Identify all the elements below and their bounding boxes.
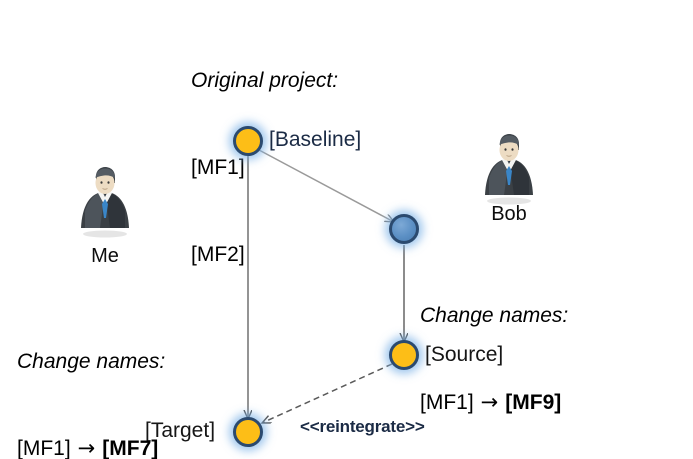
original-project-header: Original project: bbox=[191, 66, 338, 95]
me-change-row-1-to: [MF7] bbox=[102, 437, 158, 459]
avatar-bob-label: Bob bbox=[478, 203, 540, 226]
diagram-canvas: Original project: [MF1] [MF2] [Baseline]… bbox=[0, 0, 693, 459]
original-project-note: Original project: [MF1] [MF2] bbox=[191, 8, 338, 327]
node-target[interactable] bbox=[233, 417, 263, 447]
node-bob-commit[interactable] bbox=[389, 214, 419, 244]
reintegrate-stereotype-label: <<reintegrate>> bbox=[300, 417, 425, 437]
bob-change-names-note: Change names: [MF1]→[MF9] [MF2]→[MF3] bbox=[420, 243, 568, 459]
avatar-me-label: Me bbox=[74, 245, 136, 268]
edge-source-to-target bbox=[262, 364, 392, 423]
bob-change-row-1-arrow: → bbox=[481, 390, 499, 414]
original-project-line-1: [MF1] bbox=[191, 153, 338, 182]
me-change-row-1: [MF1]→[MF7] bbox=[17, 434, 165, 459]
node-baseline[interactable] bbox=[233, 126, 263, 156]
bob-change-row-1: [MF1]→[MF9] bbox=[420, 388, 568, 417]
node-source[interactable] bbox=[389, 340, 419, 370]
bob-change-row-1-from: [MF1] bbox=[420, 391, 474, 414]
me-change-names-header: Change names: bbox=[17, 347, 165, 376]
avatar-bob bbox=[478, 133, 540, 205]
bob-change-row-1-to: [MF9] bbox=[505, 391, 561, 414]
bob-change-names-header: Change names: bbox=[420, 301, 568, 330]
me-change-row-1-arrow: → bbox=[78, 436, 96, 459]
avatar-me bbox=[74, 166, 136, 238]
me-change-names-note: Change names: [MF1]→[MF7] [MF2]→[MF3] bbox=[17, 289, 165, 459]
original-project-line-2: [MF2] bbox=[191, 240, 338, 269]
node-baseline-label: [Baseline] bbox=[269, 128, 361, 152]
me-change-row-1-from: [MF1] bbox=[17, 437, 71, 459]
